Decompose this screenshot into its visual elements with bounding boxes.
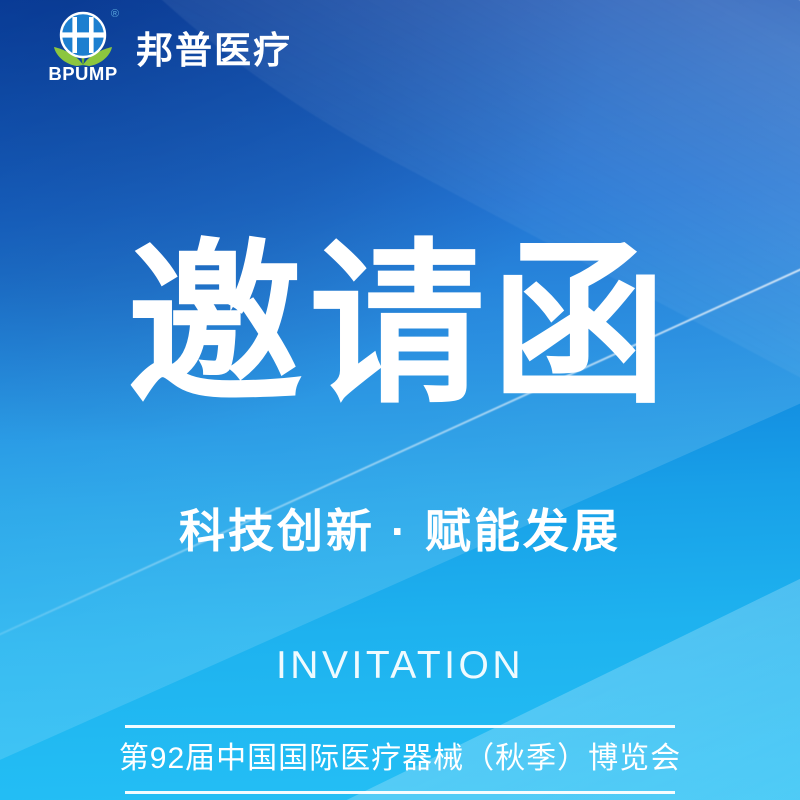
- event-name: 第92届中国国际医疗器械（秋季）博览会: [119, 728, 681, 791]
- page-title: 邀请函: [0, 238, 800, 414]
- logo-wordmark: BPUMP: [48, 65, 117, 84]
- divider-line-bottom: [125, 791, 675, 794]
- invitation-poster: ® BPUMP 邦普医疗 邀请函 科技创新 · 赋能发展 INVITATION …: [0, 0, 800, 800]
- diagonal-light-edge-upper-right: [235, 0, 800, 42]
- brand-lockup: ® BPUMP 邦普医疗: [46, 9, 292, 87]
- company-name: 邦普医疗: [136, 32, 292, 69]
- bpump-flower-logo-icon: ®: [47, 9, 119, 67]
- bpump-logo: ® BPUMP: [46, 9, 120, 87]
- subtitle-slogan: 科技创新 · 赋能发展: [0, 508, 800, 554]
- registered-trademark-icon: ®: [111, 9, 119, 20]
- footer-event-block: 第92届中国国际医疗器械（秋季）博览会: [0, 725, 800, 794]
- invitation-english-label: INVITATION: [0, 646, 800, 685]
